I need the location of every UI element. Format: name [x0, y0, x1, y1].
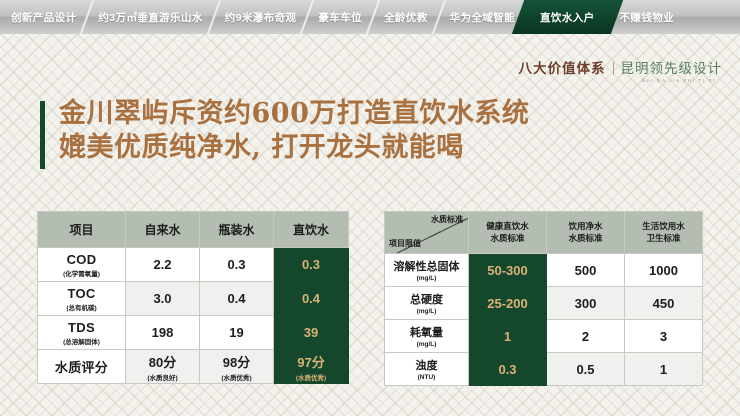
data-cell: 450	[625, 287, 703, 320]
nav-tab-1[interactable]: 创新产品设计	[0, 0, 87, 34]
data-cell: 50-300	[469, 254, 547, 287]
data-cell: 0.5	[547, 353, 625, 386]
data-cell-value: 0.3	[227, 257, 245, 272]
data-cell-value: 39	[304, 325, 318, 340]
data-cell: 0.3	[200, 248, 274, 282]
column-header-3: 瓶装水	[200, 212, 274, 248]
row-label-text: 耗氧量	[410, 327, 443, 339]
row-label-subtext: (mg/L)	[385, 341, 468, 348]
row-label-text: COD	[67, 252, 97, 267]
data-cell-subvalue: (水质优秀)	[274, 372, 348, 382]
table-row: TOC(总有机碳)3.00.40.4	[38, 282, 349, 316]
row-label-subtext: (总有机碳)	[38, 302, 125, 312]
nav-tab-5[interactable]: 全龄优教	[373, 0, 439, 34]
headline-line-1: 金川翠屿斥资约600万打造直饮水系统	[59, 98, 529, 130]
brand-main-title: 八大价值体系	[519, 63, 606, 77]
water-standards-table-body: 溶解性总固体(mg/L)50-3005001000总硬度(mg/L)25-200…	[385, 254, 703, 386]
row-label-subtext: (总溶解固体)	[38, 336, 125, 346]
nav-tab-2[interactable]: 约3万㎡垂直游乐山水	[87, 0, 213, 34]
data-cell: 25-200	[469, 287, 547, 320]
table-row: 耗氧量(mg/L)123	[385, 320, 703, 353]
data-cell-value: 98分	[223, 355, 250, 370]
diagonal-header-bottom-label: 项目限值	[389, 239, 421, 250]
table-row: COD(化学需氧量)2.20.30.3	[38, 248, 349, 282]
headline-line-2: 媲美优质纯净水, 打开龙头就能喝	[59, 132, 529, 164]
water-standards-table-wrapper: 水质标准 项目限值 健康直饮水水质标准饮用净水水质标准生活饮用水卫生标准 溶解性…	[384, 211, 703, 386]
column-header-line-2: 卫生标准	[625, 233, 702, 244]
row-label-subtext: (NTU)	[385, 374, 468, 381]
data-cell-subvalue: (水质优秀)	[200, 372, 273, 382]
nav-tab-label: 约3万㎡垂直游乐山水	[87, 10, 213, 25]
column-header-1: 健康直饮水水质标准	[469, 212, 547, 254]
brand-separator	[613, 62, 614, 75]
nav-tab-label: 创新产品设计	[0, 10, 87, 25]
data-cell: 1000	[625, 254, 703, 287]
table-row: 浊度(NTU)0.30.51	[385, 353, 703, 386]
nav-tab-label: 全龄优教	[373, 10, 439, 25]
data-cell: 500	[547, 254, 625, 287]
data-cell-value: 198	[152, 325, 174, 340]
row-label-text: 浊度	[416, 360, 438, 372]
row-label-cell: TDS(总溶解固体)	[38, 316, 126, 350]
water-standards-table: 水质标准 项目限值 健康直饮水水质标准饮用净水水质标准生活饮用水卫生标准 溶解性…	[384, 211, 703, 386]
nav-tab-label: 豪车车位	[307, 10, 373, 25]
data-cell: 98分(水质优秀)	[200, 350, 274, 384]
brand-english-subtitle: BAI DA JIA ZHI TI XI	[519, 79, 723, 84]
row-label-cell: TOC(总有机碳)	[38, 282, 126, 316]
column-header-line-1: 饮用净水	[547, 221, 624, 232]
row-label-cell: 耗氧量(mg/L)	[385, 320, 469, 353]
data-cell: 2.2	[126, 248, 200, 282]
data-cell: 1	[625, 353, 703, 386]
row-label-cell: 总硬度(mg/L)	[385, 287, 469, 320]
column-header-3: 生活饮用水卫生标准	[625, 212, 703, 254]
row-label-text: 总硬度	[410, 294, 443, 306]
row-label-subtext: (化学需氧量)	[38, 268, 125, 278]
data-cell-value: 97分	[297, 355, 324, 370]
row-label-cell: COD(化学需氧量)	[38, 248, 126, 282]
water-comparison-table: 项目自来水瓶装水直饮水 COD(化学需氧量)2.20.30.3TOC(总有机碳)…	[37, 211, 349, 384]
nav-tab-7[interactable]: 直饮水入户	[526, 0, 609, 34]
data-cell: 300	[547, 287, 625, 320]
table-row: 水质评分80分(水质良好)98分(水质优秀)97分(水质优秀)	[38, 350, 349, 384]
data-cell: 19	[200, 316, 274, 350]
column-header-line-2: 水质标准	[547, 233, 624, 244]
water-comparison-table-wrapper: 项目自来水瓶装水直饮水 COD(化学需氧量)2.20.30.3TOC(总有机碳)…	[37, 211, 349, 384]
data-cell: 0.3	[469, 353, 547, 386]
column-header-2: 饮用净水水质标准	[547, 212, 625, 254]
nav-tab-label: 不赚钱物业	[609, 10, 686, 25]
nav-tab-4[interactable]: 豪车车位	[307, 0, 373, 34]
data-cell-value: 3.0	[153, 291, 171, 306]
row-label-cell: 浊度(NTU)	[385, 353, 469, 386]
nav-tab-label: 华为全域智能	[439, 10, 526, 25]
headline-accent-bar	[40, 101, 45, 169]
headline-lines: 金川翠屿斥资约600万打造直饮水系统 媲美优质纯净水, 打开龙头就能喝	[59, 98, 529, 169]
column-header-4: 直饮水	[274, 212, 349, 248]
column-header-1: 项目	[38, 212, 126, 248]
water-comparison-table-head: 项目自来水瓶装水直饮水	[38, 212, 349, 248]
slide-canvas: 创新产品设计约3万㎡垂直游乐山水约9米瀑布奇观豪车车位全龄优教华为全域智能直饮水…	[0, 0, 740, 416]
data-cell-value: 0.4	[302, 291, 320, 306]
row-label-text: 溶解性总固体	[394, 261, 460, 273]
nav-tab-label: 约9米瀑布奇观	[214, 10, 308, 25]
table-row: TDS(总溶解固体)1981939	[38, 316, 349, 350]
nav-tab-label: 直饮水入户	[526, 10, 609, 25]
brand-row: 八大价值体系 昆明领先级设计	[519, 62, 723, 76]
data-cell: 3.0	[126, 282, 200, 316]
table-row: 溶解性总固体(mg/L)50-3005001000	[385, 254, 703, 287]
brand-lockup: 八大价值体系 昆明领先级设计 BAI DA JIA ZHI TI XI	[519, 62, 723, 84]
data-cell: 97分(水质优秀)	[274, 350, 349, 384]
water-standards-table-head: 水质标准 项目限值 健康直饮水水质标准饮用净水水质标准生活饮用水卫生标准	[385, 212, 703, 254]
data-cell-value: 19	[229, 325, 243, 340]
row-label-subtext: (mg/L)	[385, 275, 468, 282]
data-cell-value: 0.4	[227, 291, 245, 306]
row-label-text: TOC	[67, 286, 95, 301]
data-cell: 198	[126, 316, 200, 350]
data-cell-value: 80分	[149, 355, 176, 370]
table-row: 总硬度(mg/L)25-200300450	[385, 287, 703, 320]
nav-tab-3[interactable]: 约9米瀑布奇观	[214, 0, 308, 34]
row-label-subtext: (mg/L)	[385, 308, 468, 315]
column-header-2: 自来水	[126, 212, 200, 248]
data-cell: 39	[274, 316, 349, 350]
data-cell-value: 0.3	[302, 257, 320, 272]
data-cell-value: 2.2	[153, 257, 171, 272]
data-cell: 80分(水质良好)	[126, 350, 200, 384]
table-header-row: 项目自来水瓶装水直饮水	[38, 212, 349, 248]
diagonal-header-top-label: 水质标准	[431, 215, 463, 226]
row-label-cell: 溶解性总固体(mg/L)	[385, 254, 469, 287]
data-cell: 0.4	[200, 282, 274, 316]
row-label-cell: 水质评分	[38, 350, 126, 384]
nav-tab-8[interactable]: 不赚钱物业	[609, 0, 686, 34]
data-cell: 1	[469, 320, 547, 353]
table-header-row: 水质标准 项目限值 健康直饮水水质标准饮用净水水质标准生活饮用水卫生标准	[385, 212, 703, 254]
data-cell: 2	[547, 320, 625, 353]
data-cell-subvalue: (水质良好)	[126, 372, 199, 382]
data-cell: 3	[625, 320, 703, 353]
row-label-text: 水质评分	[55, 360, 108, 375]
row-label-text: TDS	[68, 320, 95, 335]
column-header-line-1: 生活饮用水	[625, 221, 702, 232]
brand-subtitle: 昆明领先级设计	[621, 63, 723, 77]
top-navigation: 创新产品设计约3万㎡垂直游乐山水约9米瀑布奇观豪车车位全龄优教华为全域智能直饮水…	[0, 0, 740, 34]
headline-block: 金川翠屿斥资约600万打造直饮水系统 媲美优质纯净水, 打开龙头就能喝	[40, 98, 529, 169]
water-comparison-table-body: COD(化学需氧量)2.20.30.3TOC(总有机碳)3.00.40.4TDS…	[38, 248, 349, 384]
column-header-line-2: 水质标准	[469, 233, 546, 244]
data-cell: 0.3	[274, 248, 349, 282]
column-header-line-1: 健康直饮水	[469, 221, 546, 232]
data-cell: 0.4	[274, 282, 349, 316]
diagonal-header-cell: 水质标准 项目限值	[385, 212, 469, 254]
